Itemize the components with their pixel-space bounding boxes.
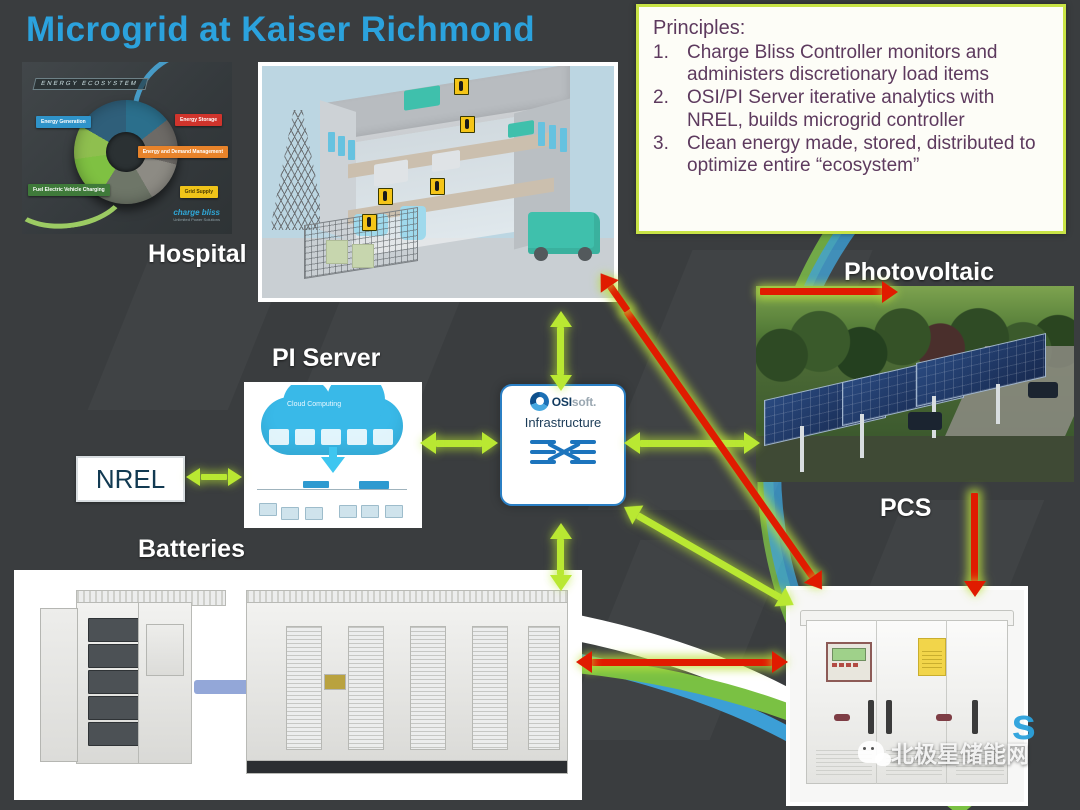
pi-server-image: Cloud Computing: [244, 382, 422, 528]
pcs-image: [786, 586, 1028, 806]
pcs-display-screen: [832, 648, 866, 661]
hospital-image: [258, 62, 618, 302]
cloud-download-arrowhead-icon: [321, 457, 345, 473]
ecosystem-label-grid-supply: Grid Supply: [180, 186, 218, 198]
watermark-text: 北极星储能网: [891, 735, 1029, 769]
cloud-service-chip: [269, 429, 289, 445]
pcs-door-handle[interactable]: [868, 700, 874, 734]
cloud-service-chip: [373, 429, 393, 445]
pcs-door-handle[interactable]: [886, 700, 892, 734]
hospital-window: [338, 136, 345, 156]
pcs-latch[interactable]: [936, 714, 952, 721]
osisoft-swirl-icon: [530, 392, 549, 411]
osisoft-brand-suffix: soft.: [572, 395, 596, 409]
hospital-window: [538, 122, 545, 146]
flow-arrow-blue: [194, 680, 250, 694]
slide-canvas: Microgrid at Kaiser Richmond Principles:…: [0, 0, 1080, 810]
charge-bliss-name: charge bliss: [173, 208, 220, 217]
parked-vehicle: [908, 412, 942, 430]
batteries-image: [14, 570, 582, 800]
hazard-marker-icon: [378, 188, 393, 205]
network-client-icon: [259, 503, 277, 516]
network-client-icon: [385, 505, 403, 518]
principle-text: Clean energy made, stored, distributed t…: [687, 133, 1051, 177]
principle-text: Charge Bliss Controller monitors and adm…: [687, 42, 1051, 86]
cloud-service-chip: [321, 429, 341, 445]
energy-ecosystem-image: ENERGY ECOSYSTEM Energy Generation Energ…: [22, 62, 232, 234]
cloud-computing-caption: Cloud Computing: [287, 401, 341, 408]
container-base: [246, 760, 568, 774]
photovoltaic-label: Photovoltaic: [844, 258, 994, 287]
battery-cabinet-door-open: [40, 608, 78, 762]
network-client-icon: [339, 505, 357, 518]
hazard-marker-icon: [460, 116, 475, 133]
hospital-window: [328, 132, 335, 152]
network-switch-icon: [303, 481, 329, 488]
ecosystem-label-demand: Energy and Demand Management: [138, 146, 228, 158]
container-vent: [472, 626, 508, 750]
hazard-marker-icon: [430, 178, 445, 195]
principle-number: 1.: [653, 42, 687, 86]
parked-vehicle: [1028, 382, 1058, 398]
principle-item: 3. Clean energy made, stored, distribute…: [653, 133, 1051, 177]
osisoft-brand-main: OSI: [552, 395, 572, 409]
network-client-icon: [281, 507, 299, 520]
charge-bliss-tagline: Unlimited Power Solutions: [173, 217, 220, 222]
principle-text: OSI/PI Server iterative analytics with N…: [687, 87, 1051, 131]
pi-server-label: PI Server: [272, 344, 380, 373]
hospital-window: [549, 125, 556, 149]
principles-heading: Principles:: [653, 17, 1051, 40]
cloud-service-chip: [347, 429, 367, 445]
battery-module: [88, 696, 142, 720]
nrel-node[interactable]: NREL: [76, 456, 185, 502]
hospital-window: [560, 128, 567, 152]
osisoft-infrastructure-node[interactable]: OSIsoft. Infrastructure: [500, 384, 626, 506]
principles-list: 1. Charge Bliss Controller monitors and …: [653, 42, 1051, 177]
wechat-icon: [858, 741, 884, 763]
battery-module: [88, 722, 142, 746]
pcs-button-row[interactable]: [832, 663, 858, 667]
battery-control-panel: [146, 624, 184, 676]
network-client-icon: [361, 505, 379, 518]
substation-transformer: [326, 240, 348, 264]
nrel-label: NREL: [96, 464, 165, 495]
carport-post: [860, 414, 864, 458]
container-access-panel: [324, 674, 346, 690]
pcs-warning-label: [918, 638, 946, 676]
hazard-marker-icon: [362, 214, 377, 231]
charge-bliss-logo: charge bliss Unlimited Power Solutions: [173, 208, 220, 222]
substation-transformer: [352, 244, 374, 268]
watermark: 北极星储能网: [858, 735, 1029, 769]
principles-panel: Principles: 1. Charge Bliss Controller m…: [636, 4, 1066, 234]
container-vent: [410, 626, 446, 750]
network-client-icon: [305, 507, 323, 520]
osisoft-brand: OSIsoft.: [552, 395, 596, 409]
hospital-window: [348, 140, 355, 160]
infrastructure-label: Infrastructure: [502, 415, 624, 430]
battery-module: [88, 644, 142, 668]
principle-number: 3.: [653, 133, 687, 177]
pcs-door-handle[interactable]: [972, 700, 978, 734]
principle-number: 2.: [653, 87, 687, 131]
cloud-service-chip: [295, 429, 315, 445]
container-vent: [528, 626, 560, 750]
battery-module: [88, 670, 142, 694]
principle-item: 2. OSI/PI Server iterative analytics wit…: [653, 87, 1051, 131]
network-bowtie-icon: [530, 436, 596, 472]
pcs-latch[interactable]: [834, 714, 850, 721]
pcs-label: PCS: [880, 494, 931, 523]
pcs-control-panel[interactable]: [826, 642, 872, 682]
carport-post: [800, 426, 804, 472]
ecosystem-label-storage: Energy Storage: [175, 114, 222, 126]
hospital-delivery-truck: [528, 212, 600, 254]
network-server-icon: [359, 481, 389, 489]
page-title: Microgrid at Kaiser Richmond: [26, 10, 535, 50]
container-vent: [348, 626, 384, 750]
battery-module: [88, 618, 142, 642]
carport-post: [996, 384, 1000, 424]
hospital-label: Hospital: [148, 240, 247, 269]
principle-item: 1. Charge Bliss Controller monitors and …: [653, 42, 1051, 86]
osisoft-logo: OSIsoft.: [502, 392, 624, 411]
ecosystem-tag: ENERGY ECOSYSTEM: [33, 78, 149, 90]
hazard-marker-icon: [454, 78, 469, 95]
photovoltaic-image: [756, 286, 1074, 482]
ecosystem-label-generation: Energy Generation: [36, 116, 91, 128]
container-vent: [286, 626, 322, 750]
network-backbone-line: [257, 489, 407, 490]
batteries-label: Batteries: [138, 535, 245, 564]
